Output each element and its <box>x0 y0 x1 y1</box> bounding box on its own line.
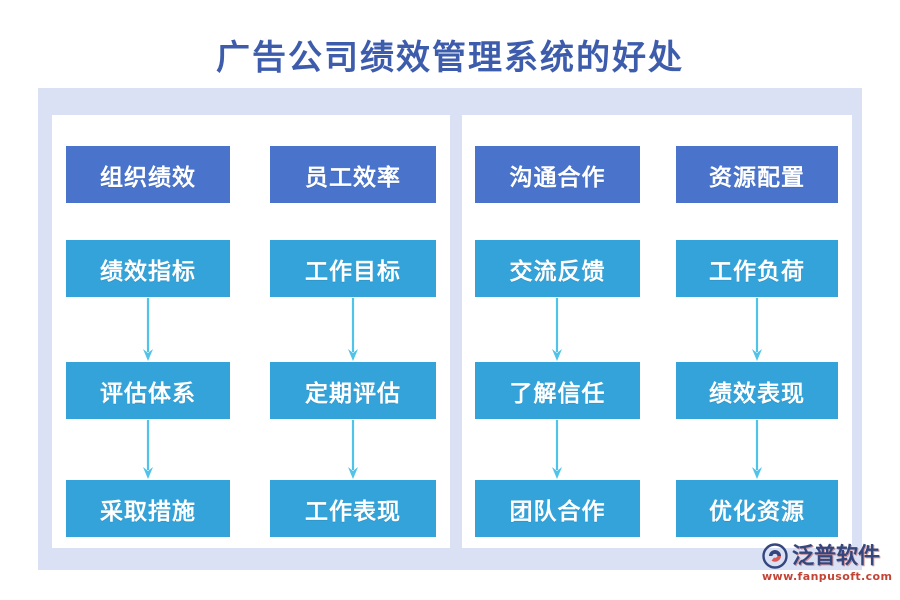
arrow-down-icon <box>141 420 155 480</box>
arrow-down-icon <box>346 420 360 480</box>
node-col-communication-cooperation-step-3: 团队合作 <box>475 480 640 537</box>
arrow-down-icon <box>550 420 564 480</box>
node-col-resource-allocation-step-2: 绩效表现 <box>676 362 838 419</box>
watermark-brand: 泛普软件 <box>792 543 880 569</box>
watermark-url: www.fanpusoft.com <box>762 570 892 583</box>
node-col-employee-efficiency-header: 员工效率 <box>270 146 436 203</box>
watermark-logo: 泛普软件 www.fanpusoft.com <box>762 543 892 591</box>
node-col-employee-efficiency-step-3: 工作表现 <box>270 480 436 537</box>
infographic-canvas: 广告公司绩效管理系统的好处 组织绩效 绩效指标 评估体系 采取措施 员工效率 工… <box>0 0 900 600</box>
node-col-organization-performance-step-1: 绩效指标 <box>66 240 230 297</box>
page-title: 广告公司绩效管理系统的好处 <box>0 36 900 80</box>
arrow-down-icon <box>141 298 155 362</box>
node-col-resource-allocation-header: 资源配置 <box>676 146 838 203</box>
node-col-organization-performance-step-2: 评估体系 <box>66 362 230 419</box>
arrow-down-icon <box>346 298 360 362</box>
node-col-resource-allocation-step-3: 优化资源 <box>676 480 838 537</box>
arrow-down-icon <box>550 298 564 362</box>
arrow-down-icon <box>750 298 764 362</box>
node-col-communication-cooperation-step-1: 交流反馈 <box>475 240 640 297</box>
node-col-resource-allocation-step-1: 工作负荷 <box>676 240 838 297</box>
node-col-employee-efficiency-step-2: 定期评估 <box>270 362 436 419</box>
node-col-communication-cooperation-step-2: 了解信任 <box>475 362 640 419</box>
arrow-down-icon <box>750 420 764 480</box>
node-col-organization-performance-step-3: 采取措施 <box>66 480 230 537</box>
fanpu-swirl-logo-icon <box>762 543 788 569</box>
node-col-employee-efficiency-step-1: 工作目标 <box>270 240 436 297</box>
node-col-organization-performance-header: 组织绩效 <box>66 146 230 203</box>
node-col-communication-cooperation-header: 沟通合作 <box>475 146 640 203</box>
